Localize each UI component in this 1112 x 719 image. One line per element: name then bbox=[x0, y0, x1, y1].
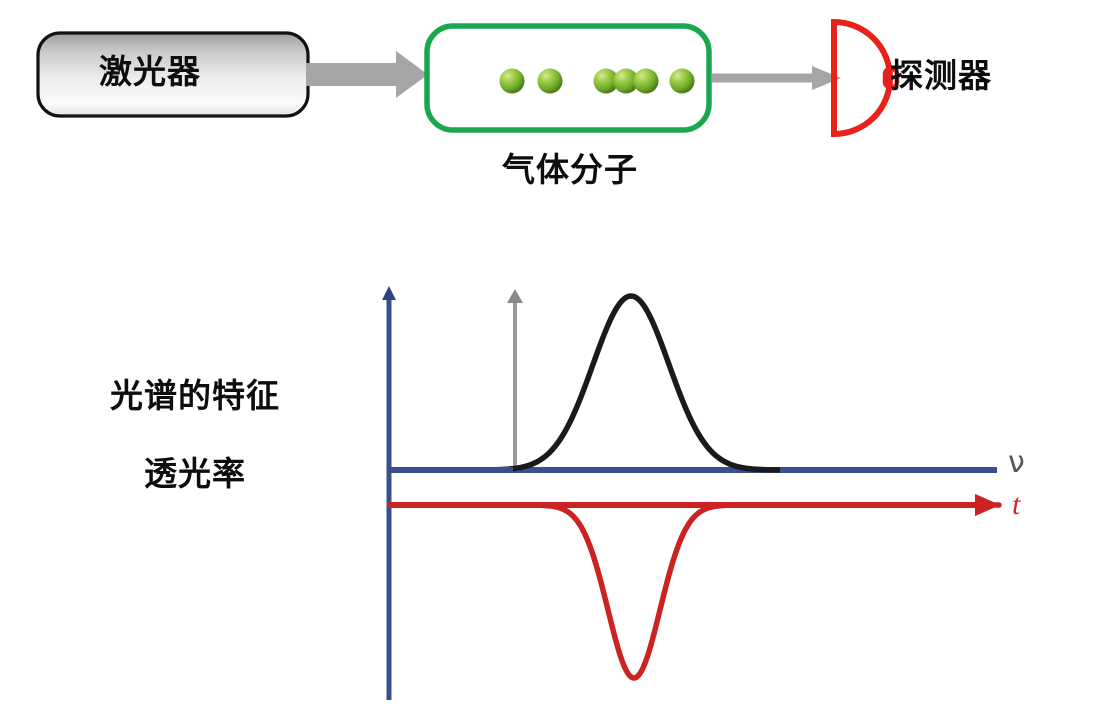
transmittance-axis-arrowhead-top bbox=[975, 494, 1000, 516]
molecule-sphere bbox=[670, 69, 695, 94]
reference-arrow-head bbox=[507, 289, 523, 303]
absorption-peak-curve bbox=[400, 296, 994, 470]
reference-arrow bbox=[507, 289, 523, 470]
detector-semicircle bbox=[834, 22, 890, 134]
intensity-axis-arrowhead bbox=[382, 286, 396, 300]
spectrum-feature-caption: 光谱的特征 bbox=[55, 378, 335, 416]
detector-label: 探测器 bbox=[890, 58, 992, 96]
beam-arrow-cell-to-detector-icon bbox=[712, 66, 841, 90]
diagram-canvas: 激光器 气体分子 探测器 光谱的特征 透光率 ν t bbox=[0, 0, 1112, 719]
transmittance-dip-curve bbox=[390, 505, 999, 678]
frequency-axis-label: ν bbox=[1008, 448, 1025, 478]
time-axis-label: t bbox=[1012, 490, 1020, 520]
laser-box-label: 激光器 bbox=[0, 54, 300, 92]
molecule-sphere bbox=[538, 69, 563, 94]
molecule-sphere bbox=[634, 69, 659, 94]
gray-block-arrow-right bbox=[306, 51, 428, 98]
gas-cell-rect bbox=[427, 26, 709, 130]
detector-icon[interactable] bbox=[834, 22, 897, 134]
gas-cell-label: 气体分子 bbox=[430, 152, 710, 190]
transmittance-caption: 透光率 bbox=[55, 456, 335, 494]
beam-arrow-laser-to-cell-icon bbox=[306, 51, 428, 98]
gas-cell-icon[interactable] bbox=[427, 26, 709, 130]
intensity-axis bbox=[382, 286, 396, 700]
molecule-sphere bbox=[500, 69, 525, 94]
scene-svg bbox=[0, 0, 1112, 719]
